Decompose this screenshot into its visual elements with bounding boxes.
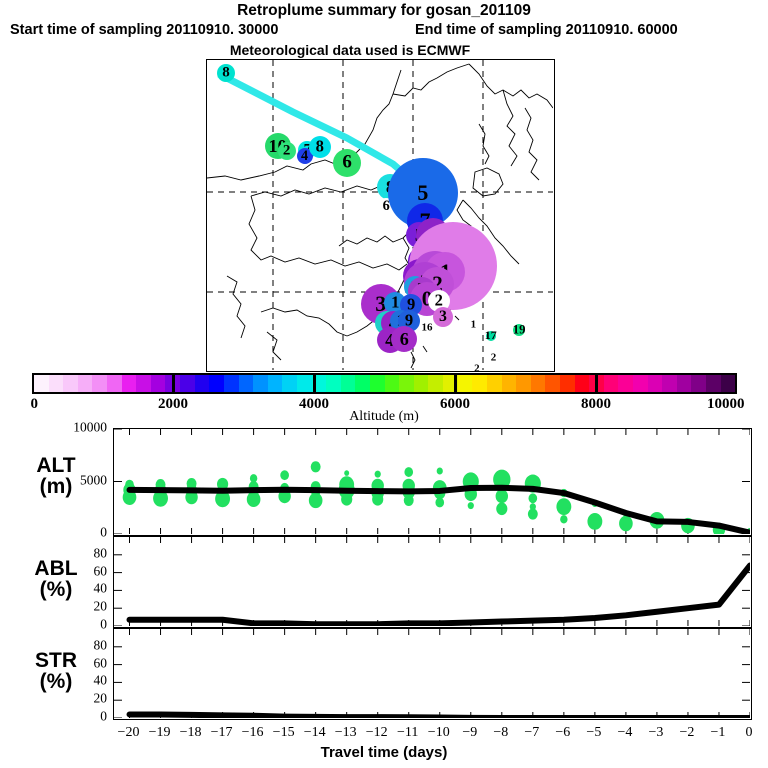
x-axis-tick: −18 bbox=[180, 725, 202, 741]
colorbar-swatch bbox=[355, 375, 370, 392]
abl-chart bbox=[113, 536, 752, 628]
colorbar-swatch bbox=[195, 375, 210, 392]
colorbar-swatch bbox=[49, 375, 64, 392]
alt-plot-area bbox=[114, 429, 750, 534]
x-axis-tick: −19 bbox=[149, 725, 171, 741]
colorbar-swatch bbox=[662, 375, 677, 392]
colorbar-swatch bbox=[502, 375, 517, 392]
y-axis-tick: 20 bbox=[49, 691, 107, 707]
map-marker-label: 6 bbox=[342, 153, 351, 172]
x-axis-tick: −14 bbox=[304, 725, 326, 741]
colorbar-swatch bbox=[560, 375, 575, 392]
colorbar-swatch bbox=[268, 375, 283, 392]
y-axis-tick: 40 bbox=[49, 581, 107, 597]
alt-scatter-point bbox=[528, 508, 538, 519]
page-title: Retroplume summary for gosan_201109 bbox=[0, 2, 768, 20]
colorbar-swatch bbox=[326, 375, 341, 392]
y-axis-tick: 40 bbox=[49, 673, 107, 689]
alt-scatter-point bbox=[309, 493, 323, 508]
colorbar-swatch bbox=[253, 375, 268, 392]
alt-scatter-point bbox=[496, 503, 507, 516]
colorbar-swatch bbox=[706, 375, 721, 392]
str-plot-area bbox=[114, 629, 750, 718]
y-axis-tick: 0 bbox=[49, 709, 107, 725]
colorbar-divider bbox=[454, 373, 457, 394]
y-axis-tick: 80 bbox=[49, 637, 107, 653]
x-axis-tick: −3 bbox=[648, 725, 663, 741]
y-axis-tick: 0 bbox=[49, 525, 107, 541]
x-axis-tick: −13 bbox=[335, 725, 357, 741]
x-axis-tick: −20 bbox=[118, 725, 140, 741]
map-marker-label: 6 bbox=[400, 330, 409, 348]
colorbar-swatch bbox=[92, 375, 107, 392]
colorbar-label: Altitude (m) bbox=[0, 409, 768, 425]
colorbar-swatch bbox=[458, 375, 473, 392]
y-axis-tick: 60 bbox=[49, 563, 107, 579]
x-axis-tick: −4 bbox=[617, 725, 632, 741]
x-axis-tick: −5 bbox=[586, 725, 601, 741]
alt-scatter-point bbox=[468, 502, 474, 509]
alt-scatter-point bbox=[437, 468, 443, 475]
colorbar-swatch bbox=[180, 375, 195, 392]
map-marker-label: 1 bbox=[471, 320, 477, 331]
alt-scatter-point bbox=[341, 493, 352, 506]
colorbar-swatch bbox=[414, 375, 429, 392]
colorbar-swatch bbox=[531, 375, 546, 392]
y-axis-tick: 20 bbox=[49, 599, 107, 615]
x-axis-tick: −12 bbox=[366, 725, 388, 741]
x-axis-tick: −15 bbox=[273, 725, 295, 741]
y-axis-tick: 10000 bbox=[49, 420, 107, 436]
alt-scatter-point bbox=[435, 498, 444, 508]
map-marker-label: 19 bbox=[513, 324, 526, 337]
colorbar-swatch bbox=[575, 375, 590, 392]
y-axis-tick: 0 bbox=[49, 617, 107, 633]
alt-scatter-point bbox=[311, 461, 321, 472]
alt-scatter-point bbox=[496, 489, 508, 503]
x-axis-tick: −7 bbox=[524, 725, 539, 741]
alt-scatter-point bbox=[247, 492, 261, 507]
colorbar-divider bbox=[313, 373, 316, 394]
map-marker-label: 2 bbox=[491, 353, 497, 364]
colorbar-swatch bbox=[282, 375, 297, 392]
colorbar-swatch bbox=[677, 375, 692, 392]
colorbar-swatch bbox=[618, 375, 633, 392]
alt-scatter-point bbox=[556, 498, 571, 515]
x-axis-tick: −1 bbox=[711, 725, 726, 741]
alt-scatter-point bbox=[404, 467, 413, 477]
y-axis-tick: 80 bbox=[49, 545, 107, 561]
colorbar-swatch bbox=[78, 375, 93, 392]
map-marker-label: 2 bbox=[474, 363, 480, 372]
colorbar-swatch bbox=[34, 375, 49, 392]
start-time-label: Start time of sampling 20110910. 30000 bbox=[10, 22, 480, 38]
abl-plot-area bbox=[114, 537, 750, 626]
end-time-label: End time of sampling 20110910. 60000 bbox=[415, 22, 765, 38]
alt-chart bbox=[113, 428, 752, 536]
x-axis-tick: 0 bbox=[746, 725, 753, 741]
alt-scatter-point bbox=[404, 495, 414, 506]
colorbar-swatch bbox=[721, 375, 736, 392]
x-axis-tick: −8 bbox=[493, 725, 508, 741]
colorbar-swatch bbox=[604, 375, 619, 392]
alt-scatter-point bbox=[528, 493, 537, 503]
colorbar-swatch bbox=[297, 375, 312, 392]
map-marker-label: 17 bbox=[485, 330, 497, 342]
alt-scatter-point bbox=[280, 470, 289, 480]
x-axis-tick: −17 bbox=[211, 725, 233, 741]
alt-scatter-point bbox=[560, 515, 567, 523]
colorbar-swatch bbox=[385, 375, 400, 392]
colorbar-swatch bbox=[487, 375, 502, 392]
met-data-label: Meteorological data used is ECMWF bbox=[0, 42, 700, 58]
map-marker-label: 2 bbox=[283, 144, 291, 159]
colorbar-swatch bbox=[239, 375, 254, 392]
map-marker-label: 3 bbox=[439, 309, 447, 325]
alt-scatter-point bbox=[375, 471, 381, 478]
abl-line bbox=[130, 565, 750, 624]
colorbar bbox=[32, 373, 737, 394]
x-axis-tick: −11 bbox=[397, 725, 418, 741]
colorbar-swatch bbox=[428, 375, 443, 392]
alt-scatter-point bbox=[619, 516, 633, 531]
map-marker-label: 8 bbox=[316, 139, 324, 156]
x-axis-tick: −10 bbox=[428, 725, 450, 741]
colorbar-divider bbox=[172, 373, 175, 394]
colorbar-divider bbox=[595, 373, 598, 394]
str-chart bbox=[113, 628, 752, 720]
colorbar-swatch bbox=[122, 375, 137, 392]
colorbar-swatch bbox=[648, 375, 663, 392]
alt-scatter-point bbox=[372, 493, 383, 506]
x-axis-tick: −16 bbox=[242, 725, 264, 741]
colorbar-swatch bbox=[107, 375, 122, 392]
y-axis-tick: 60 bbox=[49, 655, 107, 671]
colorbar-swatch bbox=[136, 375, 151, 392]
colorbar-swatch bbox=[63, 375, 78, 392]
colorbar-swatch bbox=[370, 375, 385, 392]
map-marker-label: 8 bbox=[222, 66, 230, 81]
map-marker-label: 5 bbox=[417, 182, 428, 204]
alt-scatter-point bbox=[344, 470, 349, 476]
colorbar-swatch bbox=[209, 375, 224, 392]
colorbar-swatch bbox=[633, 375, 648, 392]
x-axis-title: Travel time (days) bbox=[0, 744, 768, 761]
colorbar-swatch bbox=[472, 375, 487, 392]
x-axis-tick: −6 bbox=[555, 725, 570, 741]
retroplume-map: 8102748686575611431529202319314191646117… bbox=[206, 59, 555, 372]
colorbar-swatch bbox=[341, 375, 356, 392]
x-axis-tick: −9 bbox=[462, 725, 477, 741]
map-marker-label: 4 bbox=[301, 149, 308, 163]
x-axis-tick: −2 bbox=[679, 725, 694, 741]
colorbar-swatch bbox=[545, 375, 560, 392]
colorbar-swatch bbox=[151, 375, 166, 392]
colorbar-swatch bbox=[691, 375, 706, 392]
map-marker-label: 16 bbox=[422, 323, 433, 334]
alt-scatter-point bbox=[587, 513, 602, 530]
colorbar-swatch bbox=[224, 375, 239, 392]
map-marker-label: 1 bbox=[391, 294, 399, 311]
y-axis-tick: 5000 bbox=[49, 472, 107, 488]
colorbar-swatch bbox=[399, 375, 414, 392]
colorbar-swatch bbox=[516, 375, 531, 392]
